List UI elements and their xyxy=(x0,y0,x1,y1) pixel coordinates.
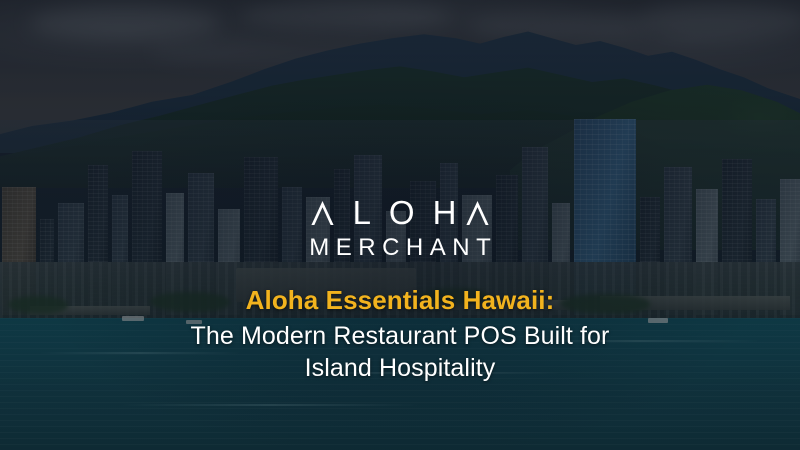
brand-logo-merchant: MERCHANT xyxy=(303,236,498,260)
headline-block: Aloha Essentials Hawaii: The Modern Rest… xyxy=(0,286,800,384)
chevron-a-icon xyxy=(310,200,335,226)
brand-logo: L O H MERCHANT xyxy=(0,196,800,260)
chevron-a-icon xyxy=(465,200,490,226)
brand-letter-o: O xyxy=(380,196,424,229)
brand-logo-aloha: L O H xyxy=(310,196,491,229)
banner-content: L O H MERCHANT Aloha Essentials Hawaii: … xyxy=(0,0,800,450)
hero-banner: L O H MERCHANT Aloha Essentials Hawaii: … xyxy=(0,0,800,450)
headline-secondary-line-2: Island Hospitality xyxy=(60,352,740,384)
brand-letter-h: H xyxy=(424,196,466,229)
headline-secondary-line-1: The Modern Restaurant POS Built for xyxy=(60,320,740,352)
headline-primary: Aloha Essentials Hawaii: xyxy=(60,286,740,316)
brand-letter-l: L xyxy=(344,196,380,229)
